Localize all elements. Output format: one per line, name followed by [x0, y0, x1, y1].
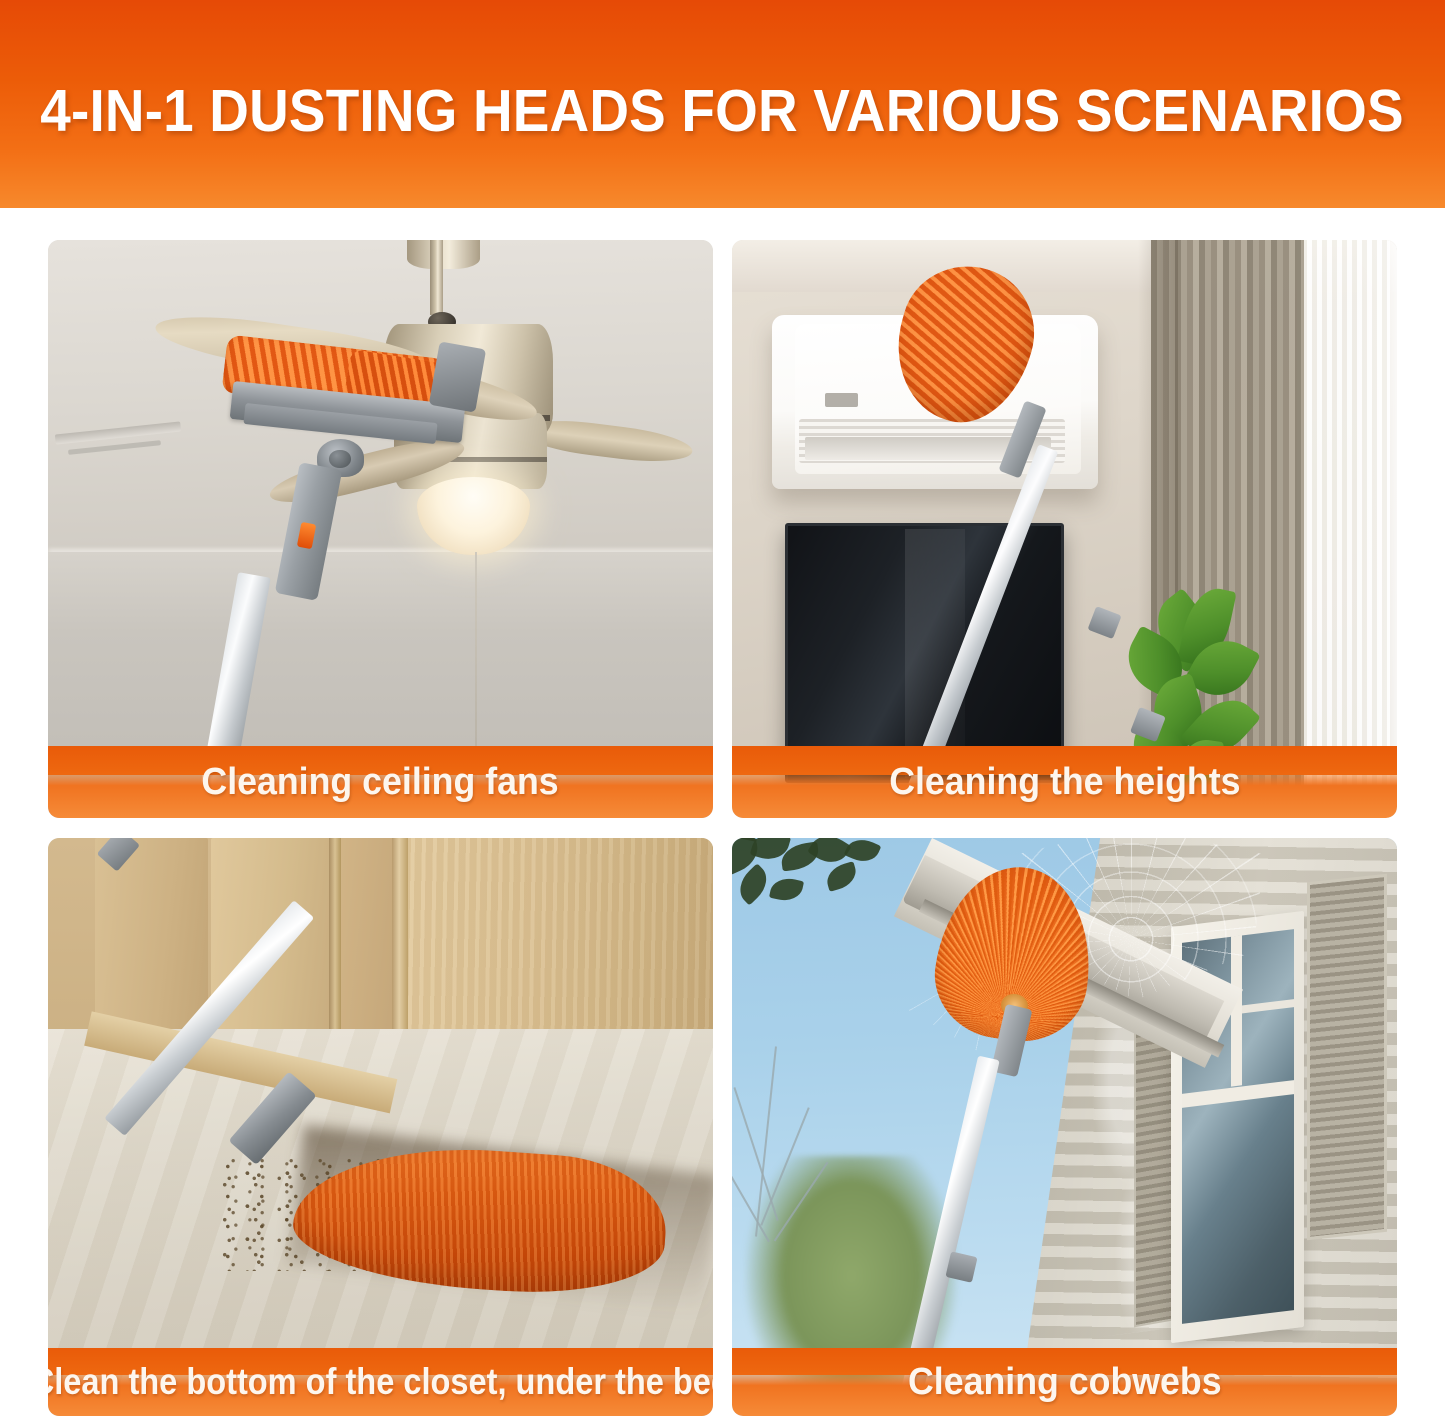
photo-heights	[732, 240, 1397, 818]
caption-label-cobwebs: Cleaning cobwebs	[908, 1361, 1222, 1404]
page-title: 4-IN-1 DUSTING HEADS FOR VARIOUS SCENARI…	[41, 63, 1404, 145]
bare-tree-branches	[732, 1046, 858, 1364]
scenario-panel-heights[interactable]: Cleaning the heights	[732, 240, 1397, 818]
fan-canopy	[407, 240, 480, 269]
air-conditioner-brand-logo	[825, 393, 858, 407]
duster-pivot-button-icon	[329, 450, 350, 467]
caption-label-heights: Cleaning the heights	[889, 761, 1240, 804]
sheer-curtain	[1297, 240, 1390, 818]
scenario-panel-closet-bottom[interactable]: Clean the bottom of the closet, under th…	[48, 838, 713, 1416]
photo-ceiling-fan	[48, 240, 713, 818]
window-shutter-right	[1307, 874, 1387, 1241]
scenario-panel-ceiling-fan[interactable]: Cleaning ceiling fans	[48, 240, 713, 818]
caption-bar-cobwebs: Cleaning cobwebs	[732, 1348, 1397, 1416]
caption-label-ceiling-fan: Cleaning ceiling fans	[202, 761, 559, 804]
scenario-panel-grid: Cleaning ceiling fans	[48, 240, 1397, 1416]
photo-closet-bottom	[48, 838, 713, 1416]
photo-cobwebs	[732, 838, 1397, 1416]
scenario-panel-cobwebs[interactable]: Cleaning cobwebs	[732, 838, 1397, 1416]
caption-label-closet-bottom: Clean the bottom of the closet, under th…	[48, 1361, 713, 1403]
caption-bar-ceiling-fan: Cleaning ceiling fans	[48, 746, 713, 818]
caption-bar-heights: Cleaning the heights	[732, 746, 1397, 818]
fan-downrod	[430, 240, 443, 315]
header-banner: 4-IN-1 DUSTING HEADS FOR VARIOUS SCENARI…	[0, 0, 1445, 208]
caption-bar-closet-bottom: Clean the bottom of the closet, under th…	[48, 1348, 713, 1416]
foreground-tree-leaves	[732, 838, 892, 948]
